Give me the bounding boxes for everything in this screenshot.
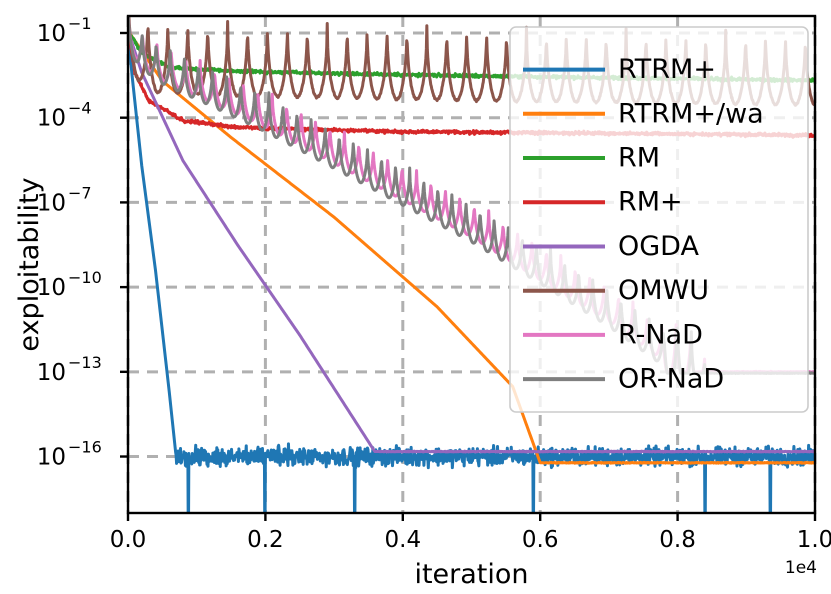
legend-label-7: OR-NaD bbox=[618, 364, 724, 395]
y-tick-base-1: 10 bbox=[37, 106, 66, 132]
y-tick-base-5: 10 bbox=[37, 445, 66, 471]
y-tick-base-4: 10 bbox=[37, 360, 66, 386]
x-tick-label-2: 0.4 bbox=[385, 527, 422, 553]
x-tick-label-4: 0.8 bbox=[659, 527, 696, 553]
legend-label-4: OGDA bbox=[618, 231, 699, 262]
legend-label-1: RTRM+/wa bbox=[618, 98, 764, 129]
y-tick-exponent-0: −1 bbox=[68, 14, 92, 33]
x-axis-label: iteration bbox=[128, 559, 815, 590]
y-tick-label-4: 10−13 bbox=[37, 353, 102, 386]
y-tick-label-3: 10−10 bbox=[37, 268, 102, 301]
y-tick-exponent-4: −13 bbox=[68, 353, 102, 372]
y-tick-label-1: 10−4 bbox=[37, 99, 92, 132]
x-tick-label-0: 0.0 bbox=[110, 527, 147, 553]
y-tick-exponent-2: −7 bbox=[68, 183, 92, 202]
y-tick-label-0: 10−1 bbox=[37, 14, 92, 47]
x-tick-label-1: 0.2 bbox=[247, 527, 284, 553]
legend-label-3: RM+ bbox=[618, 187, 683, 218]
x-tick-label-3: 0.6 bbox=[522, 527, 559, 553]
chart-svg: 0.00.20.40.60.81.010−110−410−710−1010−13… bbox=[0, 0, 831, 594]
legend-label-2: RM bbox=[618, 143, 660, 174]
figure-canvas: 0.00.20.40.60.81.010−110−410−710−1010−13… bbox=[0, 0, 831, 594]
y-axis-label: exploitability bbox=[14, 177, 45, 351]
legend-label-5: OMWU bbox=[618, 275, 709, 306]
legend[interactable]: RTRM+RTRM+/waRMRM+OGDAOMWUR-NaDOR-NaD bbox=[510, 27, 808, 412]
x-tick-label-5: 1.0 bbox=[797, 527, 831, 553]
y-tick-exponent-5: −16 bbox=[68, 438, 102, 457]
y-tick-base-0: 10 bbox=[37, 21, 66, 47]
y-tick-exponent-3: −10 bbox=[68, 268, 102, 287]
y-tick-exponent-1: −4 bbox=[68, 99, 92, 118]
legend-label-0: RTRM+ bbox=[618, 54, 716, 85]
legend-label-6: R-NaD bbox=[618, 319, 703, 350]
y-tick-label-5: 10−16 bbox=[37, 438, 102, 471]
